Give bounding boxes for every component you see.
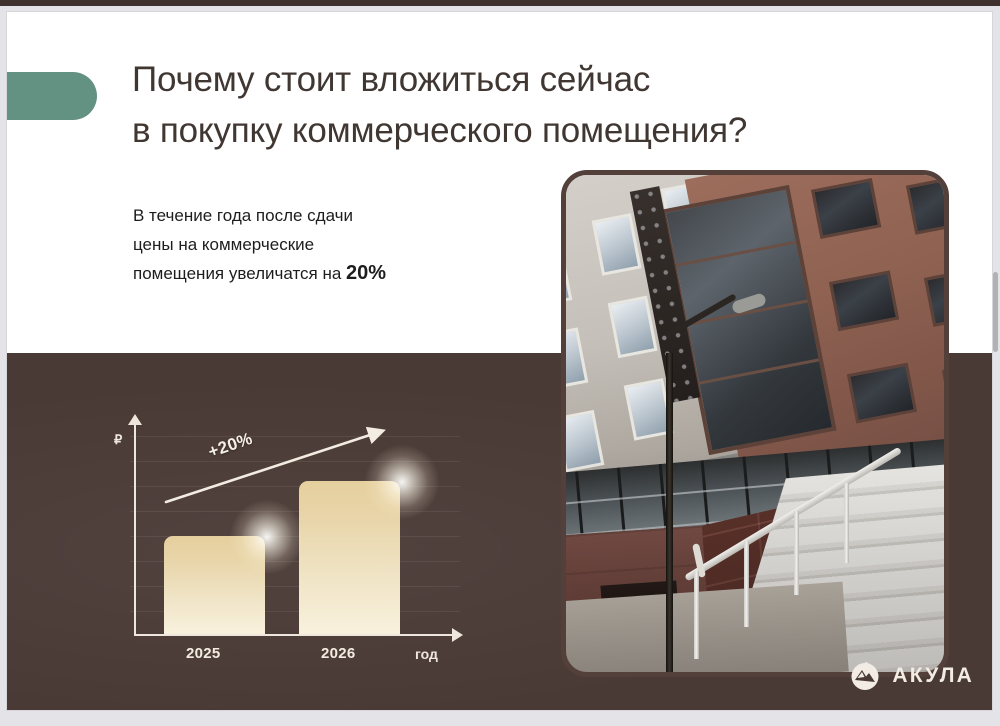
page-title: Почему стоит вложиться сейчас в покупку … [132,54,967,156]
price-growth-bar-chart: ₽ год 2025 2026 +20% [102,414,482,674]
brand-name: АКУЛА [892,664,974,688]
photo-rail-post [794,511,799,595]
y-axis [134,422,136,636]
x-axis-label: год [415,646,438,662]
photo-rail-post [744,541,749,627]
x-tick-label-2025: 2025 [186,645,221,662]
y-axis-label: ₽ [114,432,122,448]
building-photo-content [566,175,944,672]
bar-2025 [164,536,265,634]
grid-line [130,511,460,512]
y-axis-arrow-icon [128,414,142,425]
subtitle-line-1: В течение года после сдачи [133,206,353,225]
photo-street-lamp-post [666,353,673,672]
photo-rail-post [694,571,699,659]
subtitle-line-3: помещения увеличатся на [133,264,346,283]
subtitle-text: В течение года после сдачи цены на комме… [133,201,503,288]
x-axis-arrow-icon [452,628,463,642]
brand-logo: АКУЛА [849,660,974,692]
slide-viewer: Почему стоит вложиться сейчас в покупку … [0,0,1000,726]
subtitle-highlight: 20% [346,262,386,284]
x-tick-label-2026: 2026 [321,645,356,662]
presentation-slide: Почему стоит вложиться сейчас в покупку … [7,12,992,710]
shark-in-circle-icon [849,660,881,692]
building-photo [561,170,949,677]
viewer-scrollbar[interactable] [993,272,998,352]
x-axis [134,634,456,636]
trend-arrow-icon [162,424,392,509]
accent-pill-shape [7,72,97,120]
subtitle-line-2: цены на коммерческие [133,235,314,254]
photo-rail-post [844,483,849,563]
